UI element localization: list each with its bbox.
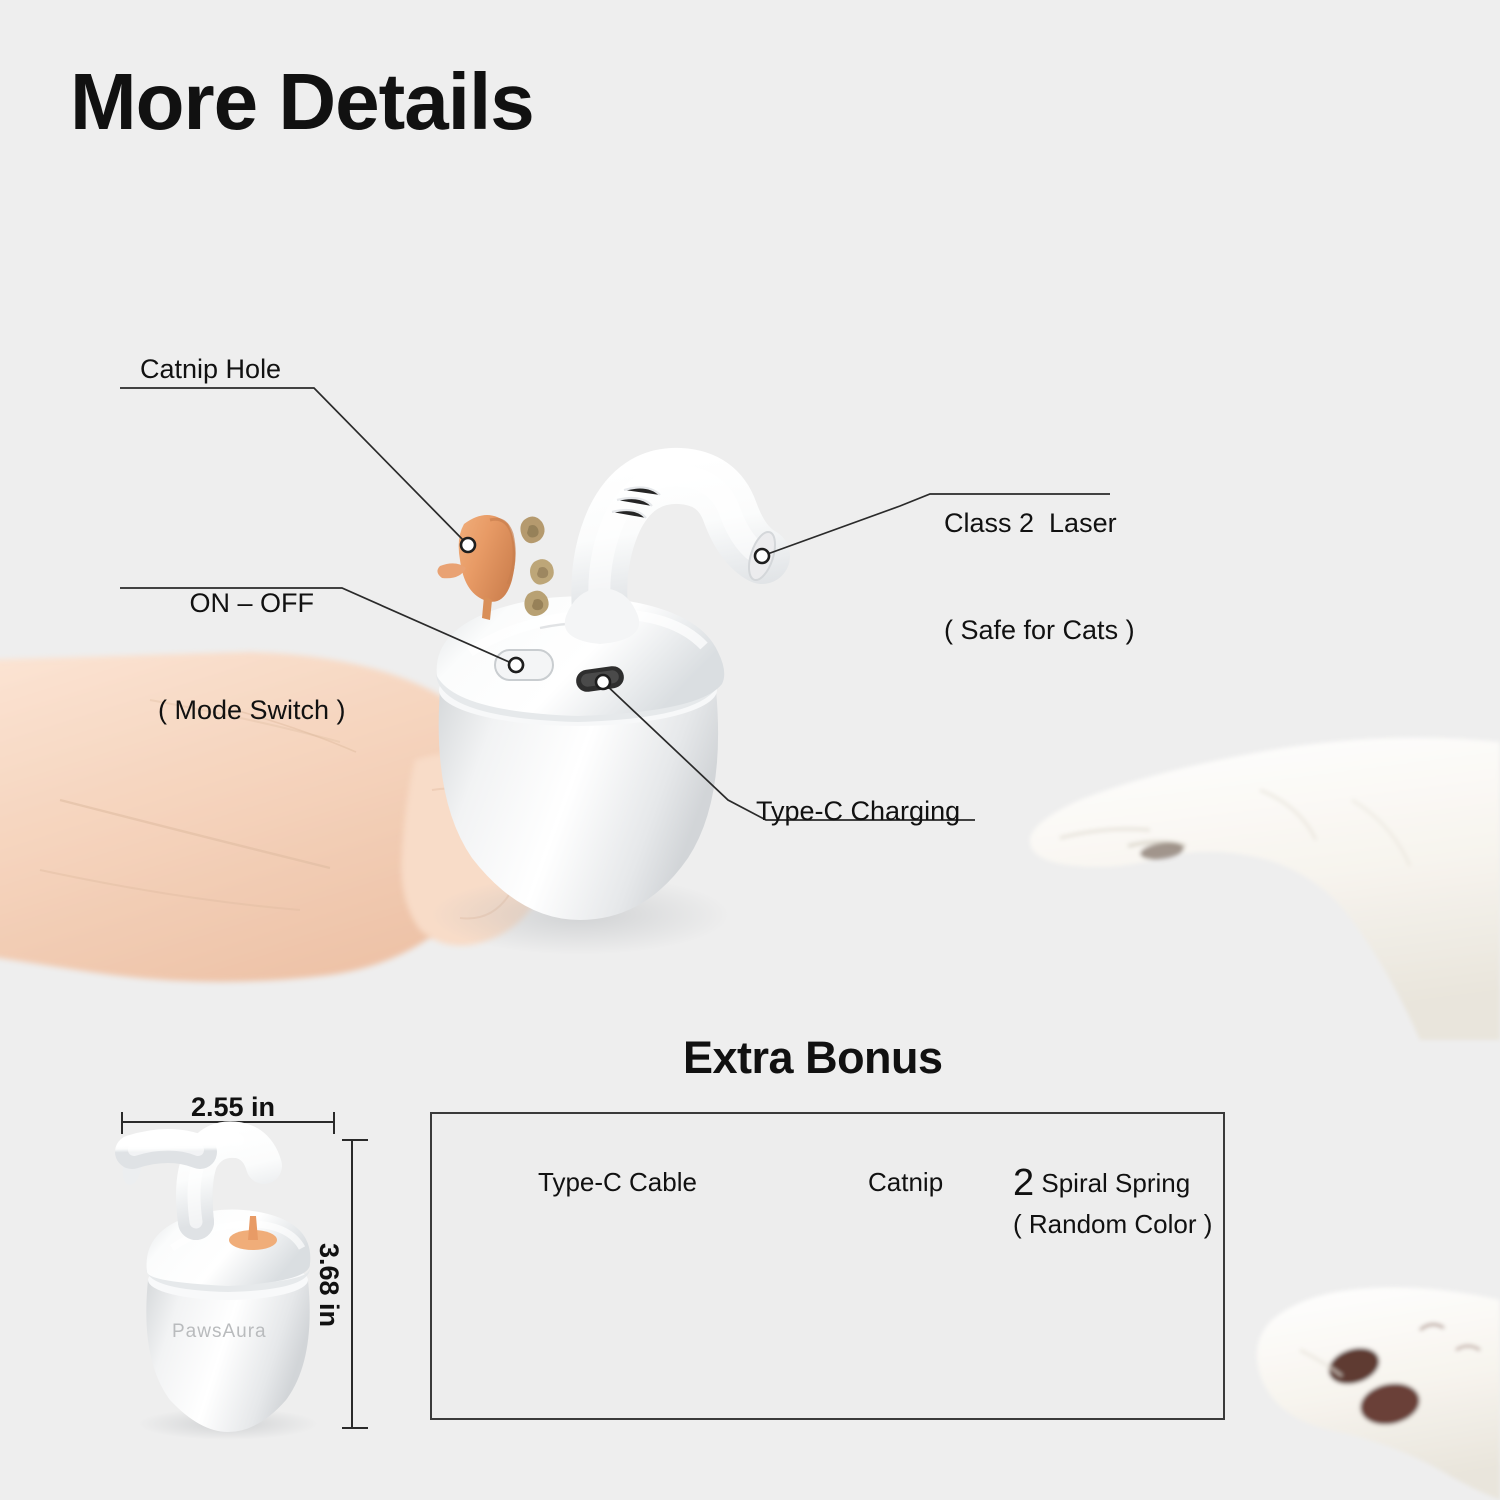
catnip-pellets: [520, 516, 553, 616]
bonus-label-type-c-cable: Type-C Cable: [538, 1166, 697, 1200]
extra-bonus-box: [430, 1112, 1225, 1420]
spring-label-line-2: ( Random Color ): [1013, 1208, 1212, 1241]
height-dimension-line: [342, 1140, 368, 1428]
bonus-label-spiral-spring: 2 Spiral Spring ( Random Color ): [1013, 1160, 1212, 1240]
mode-switch-line-2: ( Mode Switch ): [158, 693, 346, 729]
extra-bonus-title: Extra Bonus: [683, 1032, 943, 1084]
cat-paw-lower: [1257, 1288, 1500, 1500]
callout-label-catnip-hole: Catnip Hole: [140, 352, 281, 388]
device-main: [436, 476, 780, 920]
infographic-root: More Details: [0, 0, 1500, 1500]
callout-endpoint-dots: [461, 538, 769, 689]
dimension-width-label: 2.55 in: [191, 1092, 275, 1123]
cat-paw-upper: [1030, 738, 1500, 1040]
mode-switch-control: [495, 650, 553, 680]
callout-label-mode-switch: ON – OFF ( Mode Switch ): [158, 515, 346, 800]
laser-emitter: [744, 529, 780, 583]
small-device-catnip-plug: [229, 1216, 277, 1250]
usb-c-port: [575, 665, 626, 693]
spring-label-line-1: 2 Spiral Spring: [1013, 1160, 1212, 1208]
laser-arm: [565, 476, 780, 644]
page-title: More Details: [70, 62, 534, 142]
spring-name: Spiral Spring: [1034, 1168, 1190, 1198]
laser-line-2: ( Safe for Cats ): [944, 613, 1135, 649]
laser-line-1: Class 2 Laser: [944, 506, 1135, 542]
mode-switch-line-1: ON – OFF: [158, 586, 346, 622]
bonus-label-catnip: Catnip: [868, 1166, 943, 1200]
spring-count: 2: [1013, 1162, 1034, 1204]
product-brand-logo: PawsAura: [172, 1321, 267, 1343]
catnip-plug: [437, 515, 515, 620]
dimension-height-label: 3.68 in: [313, 1243, 344, 1327]
callout-label-class2-laser: Class 2 Laser ( Safe for Cats ): [944, 435, 1135, 720]
callout-label-type-c-charging: Type-C Charging: [756, 794, 960, 830]
